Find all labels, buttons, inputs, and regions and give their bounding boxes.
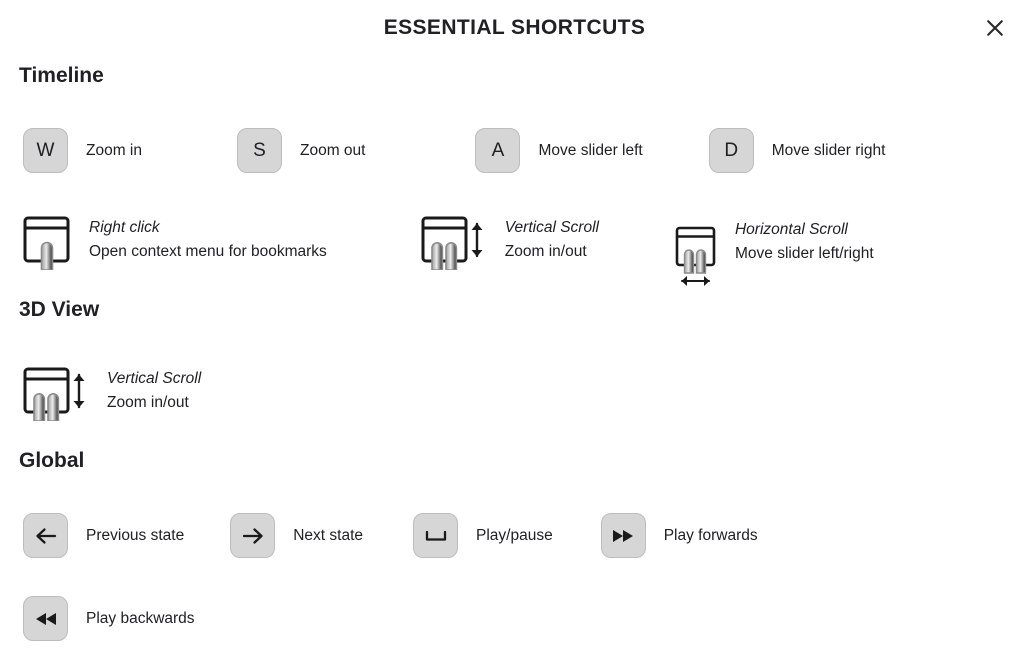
keycap-arrow-left[interactable] (23, 513, 68, 558)
shortcut-play-pause[interactable]: Play/pause (413, 513, 553, 558)
action-label-horizontal-scroll: Move slider left/right (735, 242, 874, 266)
keycap-w-glyph: W (37, 141, 55, 160)
shortcut-label-zoom-out: Zoom out (300, 142, 365, 160)
gesture-label-horizontal-scroll: Horizontal Scroll (735, 218, 874, 242)
shortcut-move-slider-left[interactable]: A Move slider left (475, 128, 642, 173)
gesture-label-right-click: Right click (89, 216, 327, 240)
page-title: ESSENTIAL SHORTCUTS (384, 16, 646, 40)
arrow-right-icon (241, 525, 265, 547)
shortcut-zoom-out[interactable]: S Zoom out (237, 128, 365, 173)
action-label-vertical-scroll-3dview: Zoom in/out (107, 391, 201, 415)
gesture-label-vertical-scroll-timeline: Vertical Scroll (505, 216, 599, 240)
keycap-s-glyph: S (253, 141, 266, 160)
keycap-arrow-right[interactable] (230, 513, 275, 558)
shortcut-previous-state[interactable]: Previous state (23, 513, 184, 558)
fast-forward-icon (610, 527, 636, 545)
shortcut-label-move-slider-left: Move slider left (538, 142, 642, 160)
section-heading-global: Global (0, 449, 84, 473)
rewind-icon (33, 610, 59, 628)
spacebar-icon (423, 527, 449, 545)
section-heading-timeline: Timeline (0, 64, 104, 88)
shortcut-play-backwards[interactable]: Play backwards (23, 596, 195, 641)
close-icon (985, 18, 1005, 38)
shortcut-label-previous-state: Previous state (86, 527, 184, 545)
dialog-header: ESSENTIAL SHORTCUTS (0, 0, 1029, 56)
shortcut-text-right-click: Right click Open context menu for bookma… (89, 216, 327, 264)
shortcut-row-global-2: Play backwards (0, 596, 1029, 641)
gesture-label-vertical-scroll-3dview: Vertical Scroll (107, 367, 201, 391)
section-heading-3dview: 3D View (0, 298, 99, 322)
keycap-w[interactable]: W (23, 128, 68, 173)
shortcut-label-zoom-in: Zoom in (86, 142, 142, 160)
shortcut-row-global-1: Previous state Next state Play/pause (0, 513, 1029, 558)
shortcut-text-vertical-scroll-3dview: Vertical Scroll Zoom in/out (107, 367, 201, 415)
shortcut-label-play-forwards: Play forwards (664, 527, 758, 545)
keycap-rewind[interactable] (23, 596, 68, 641)
shortcut-label-next-state: Next state (293, 527, 363, 545)
action-label-right-click: Open context menu for bookmarks (89, 240, 327, 264)
action-label-vertical-scroll-timeline: Zoom in/out (505, 240, 599, 264)
shortcut-row-timeline-mouse: Right click Open context menu for bookma… (0, 214, 1029, 293)
shortcut-vertical-scroll-3dview[interactable]: Vertical Scroll Zoom in/out (21, 365, 201, 426)
shortcut-play-forwards[interactable]: Play forwards (601, 513, 758, 558)
shortcut-move-slider-right[interactable]: D Move slider right (709, 128, 886, 173)
shortcut-text-horizontal-scroll: Horizontal Scroll Move slider left/right (735, 218, 874, 266)
mouse-vertical-scroll-icon (419, 214, 491, 275)
shortcut-zoom-in[interactable]: W Zoom in (23, 128, 142, 173)
keycap-spacebar[interactable] (413, 513, 458, 558)
shortcut-label-move-slider-right: Move slider right (772, 142, 886, 160)
mouse-horizontal-scroll-icon (673, 226, 721, 293)
shortcut-vertical-scroll-timeline[interactable]: Vertical Scroll Zoom in/out (419, 214, 599, 275)
close-button[interactable] (979, 12, 1011, 44)
shortcut-row-timeline-keys: W Zoom in S Zoom out A Move slider left … (0, 128, 1029, 173)
shortcut-row-3dview-mouse: Vertical Scroll Zoom in/out (0, 365, 1029, 426)
keycap-a-glyph: A (492, 141, 505, 160)
keycap-s[interactable]: S (237, 128, 282, 173)
shortcut-next-state[interactable]: Next state (230, 513, 363, 558)
keycap-d-glyph: D (724, 141, 738, 160)
shortcut-label-play-pause: Play/pause (476, 527, 553, 545)
keycap-fast-forward[interactable] (601, 513, 646, 558)
shortcut-label-play-backwards: Play backwards (86, 610, 195, 628)
mouse-right-click-icon (21, 214, 75, 275)
shortcut-right-click[interactable]: Right click Open context menu for bookma… (21, 214, 327, 275)
mouse-vertical-scroll-icon (21, 365, 93, 426)
shortcut-text-vertical-scroll-timeline: Vertical Scroll Zoom in/out (505, 216, 599, 264)
arrow-left-icon (34, 525, 58, 547)
shortcut-horizontal-scroll[interactable]: Horizontal Scroll Move slider left/right (673, 226, 874, 293)
keycap-d[interactable]: D (709, 128, 754, 173)
keycap-a[interactable]: A (475, 128, 520, 173)
